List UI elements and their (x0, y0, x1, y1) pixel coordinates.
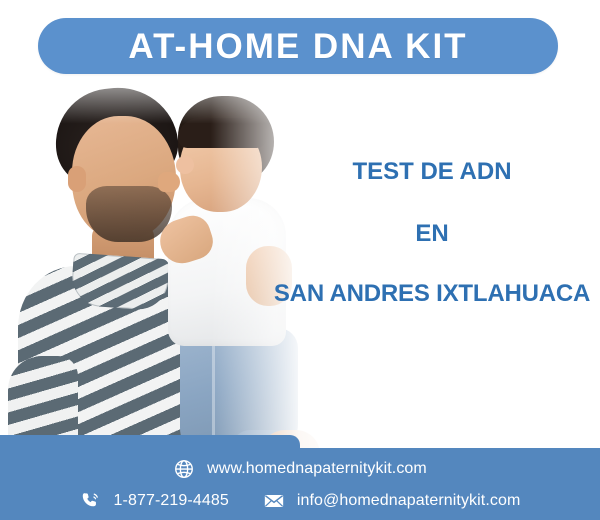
footer-row-phone-email: 1-877-219-4485 info@homednapaternitykit.… (0, 486, 600, 516)
header-banner-title: AT-HOME DNA KIT (128, 29, 467, 64)
headline-line-2: EN (264, 222, 600, 246)
footer-contact-block: www.homednapaternitykit.com 1-877-219-44… (0, 448, 600, 520)
header-banner: AT-HOME DNA KIT (38, 18, 558, 74)
footer-phone-item[interactable]: 1-877-219-4485 (80, 490, 229, 512)
footer-website-text: www.homednapaternitykit.com (207, 460, 427, 478)
phone-icon (80, 490, 102, 512)
footer-website-item[interactable]: www.homednapaternitykit.com (173, 458, 427, 480)
footer-phone-text: 1-877-219-4485 (114, 492, 229, 510)
envelope-icon (263, 490, 285, 512)
footer-email-item[interactable]: info@homednapaternitykit.com (263, 490, 521, 512)
headline-line-3: SAN ANDRES IXTLAHUACA (264, 282, 600, 306)
headline-block: TEST DE ADN EN SAN ANDRES IXTLAHUACA (264, 160, 600, 306)
poster-canvas: AT-HOME DNA KIT TEST DE ADN EN SAN ANDRE… (0, 0, 600, 520)
footer-email-text: info@homednapaternitykit.com (297, 492, 521, 510)
footer-row-website: www.homednapaternitykit.com (0, 454, 600, 484)
globe-icon (173, 458, 195, 480)
headline-line-1: TEST DE ADN (264, 160, 600, 184)
